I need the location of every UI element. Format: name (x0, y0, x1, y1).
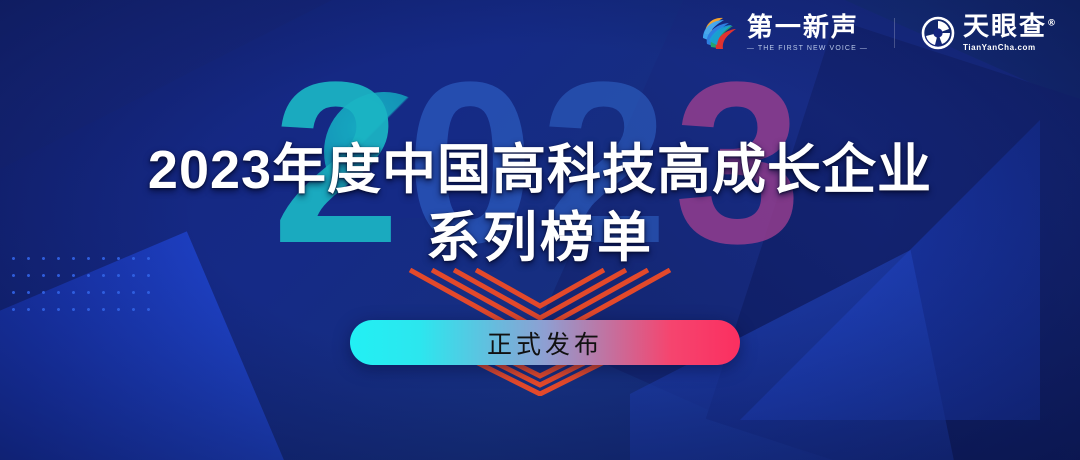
logo-text-tianyancha: 天眼查® TianYanCha.com (963, 14, 1058, 52)
logo-divider (894, 18, 895, 48)
release-status-pill[interactable]: 正式发布 (350, 320, 740, 365)
title-line-2: 系列榜单 (0, 204, 1080, 272)
page-title: 2023年度中国高科技高成长企业 系列榜单 (0, 136, 1080, 272)
logo-tianyancha[interactable]: 天眼查® TianYanCha.com (921, 14, 1058, 52)
logo-name-cn: 天眼查® (963, 14, 1058, 40)
trademark-symbol: ® (1047, 18, 1058, 28)
logo-bar: 第一新声 — THE FIRST NEW VOICE — 天眼查® TianYa… (699, 14, 1058, 52)
logo-tagline-en: — THE FIRST NEW VOICE — (747, 45, 868, 52)
eye-aperture-logo-icon (921, 16, 955, 50)
release-status-label: 正式发布 (487, 325, 603, 361)
promo-banner: 2023 2023年度中国高科技高成长企业 系列榜单 正式发布 (0, 0, 1080, 460)
logo-text-diyixinsheng: 第一新声 — THE FIRST NEW VOICE — (747, 15, 868, 52)
title-line-1: 2023年度中国高科技高成长企业 (0, 136, 1080, 204)
logo-diyixinsheng[interactable]: 第一新声 — THE FIRST NEW VOICE — (699, 14, 868, 52)
logo-domain: TianYanCha.com (963, 44, 1058, 52)
logo-name-cn-text: 天眼查 (963, 12, 1047, 42)
swirl-logo-icon (699, 14, 739, 52)
logo-name-cn: 第一新声 (747, 15, 868, 41)
